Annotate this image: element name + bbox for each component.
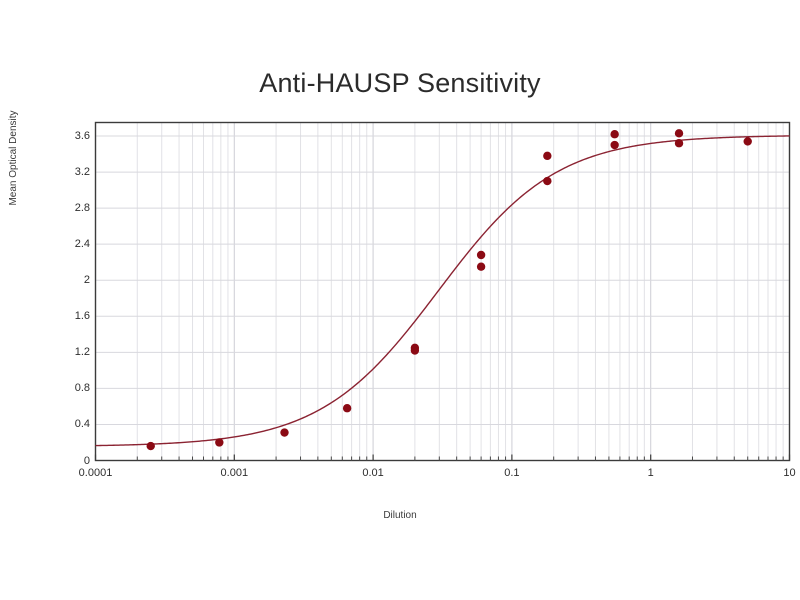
chart-figure: Anti-HAUSP Sensitivity Mean Optical Dens…	[0, 0, 800, 600]
data-point	[477, 263, 485, 271]
plot-area	[0, 0, 800, 600]
data-point	[543, 152, 551, 160]
x-axis-ticks	[96, 455, 790, 461]
major-gridlines	[96, 123, 790, 461]
data-point	[280, 428, 288, 436]
data-point	[543, 177, 551, 185]
data-point	[744, 137, 752, 145]
data-points	[147, 129, 752, 450]
data-point	[147, 442, 155, 450]
y-gridlines	[96, 136, 790, 424]
data-point	[343, 404, 351, 412]
data-point	[610, 141, 618, 149]
data-point	[215, 438, 223, 446]
fit-curve	[96, 136, 790, 446]
data-point	[477, 251, 485, 259]
data-point	[411, 346, 419, 354]
data-point	[610, 130, 618, 138]
data-point	[675, 139, 683, 147]
plot-frame	[96, 123, 790, 461]
data-point	[675, 129, 683, 137]
